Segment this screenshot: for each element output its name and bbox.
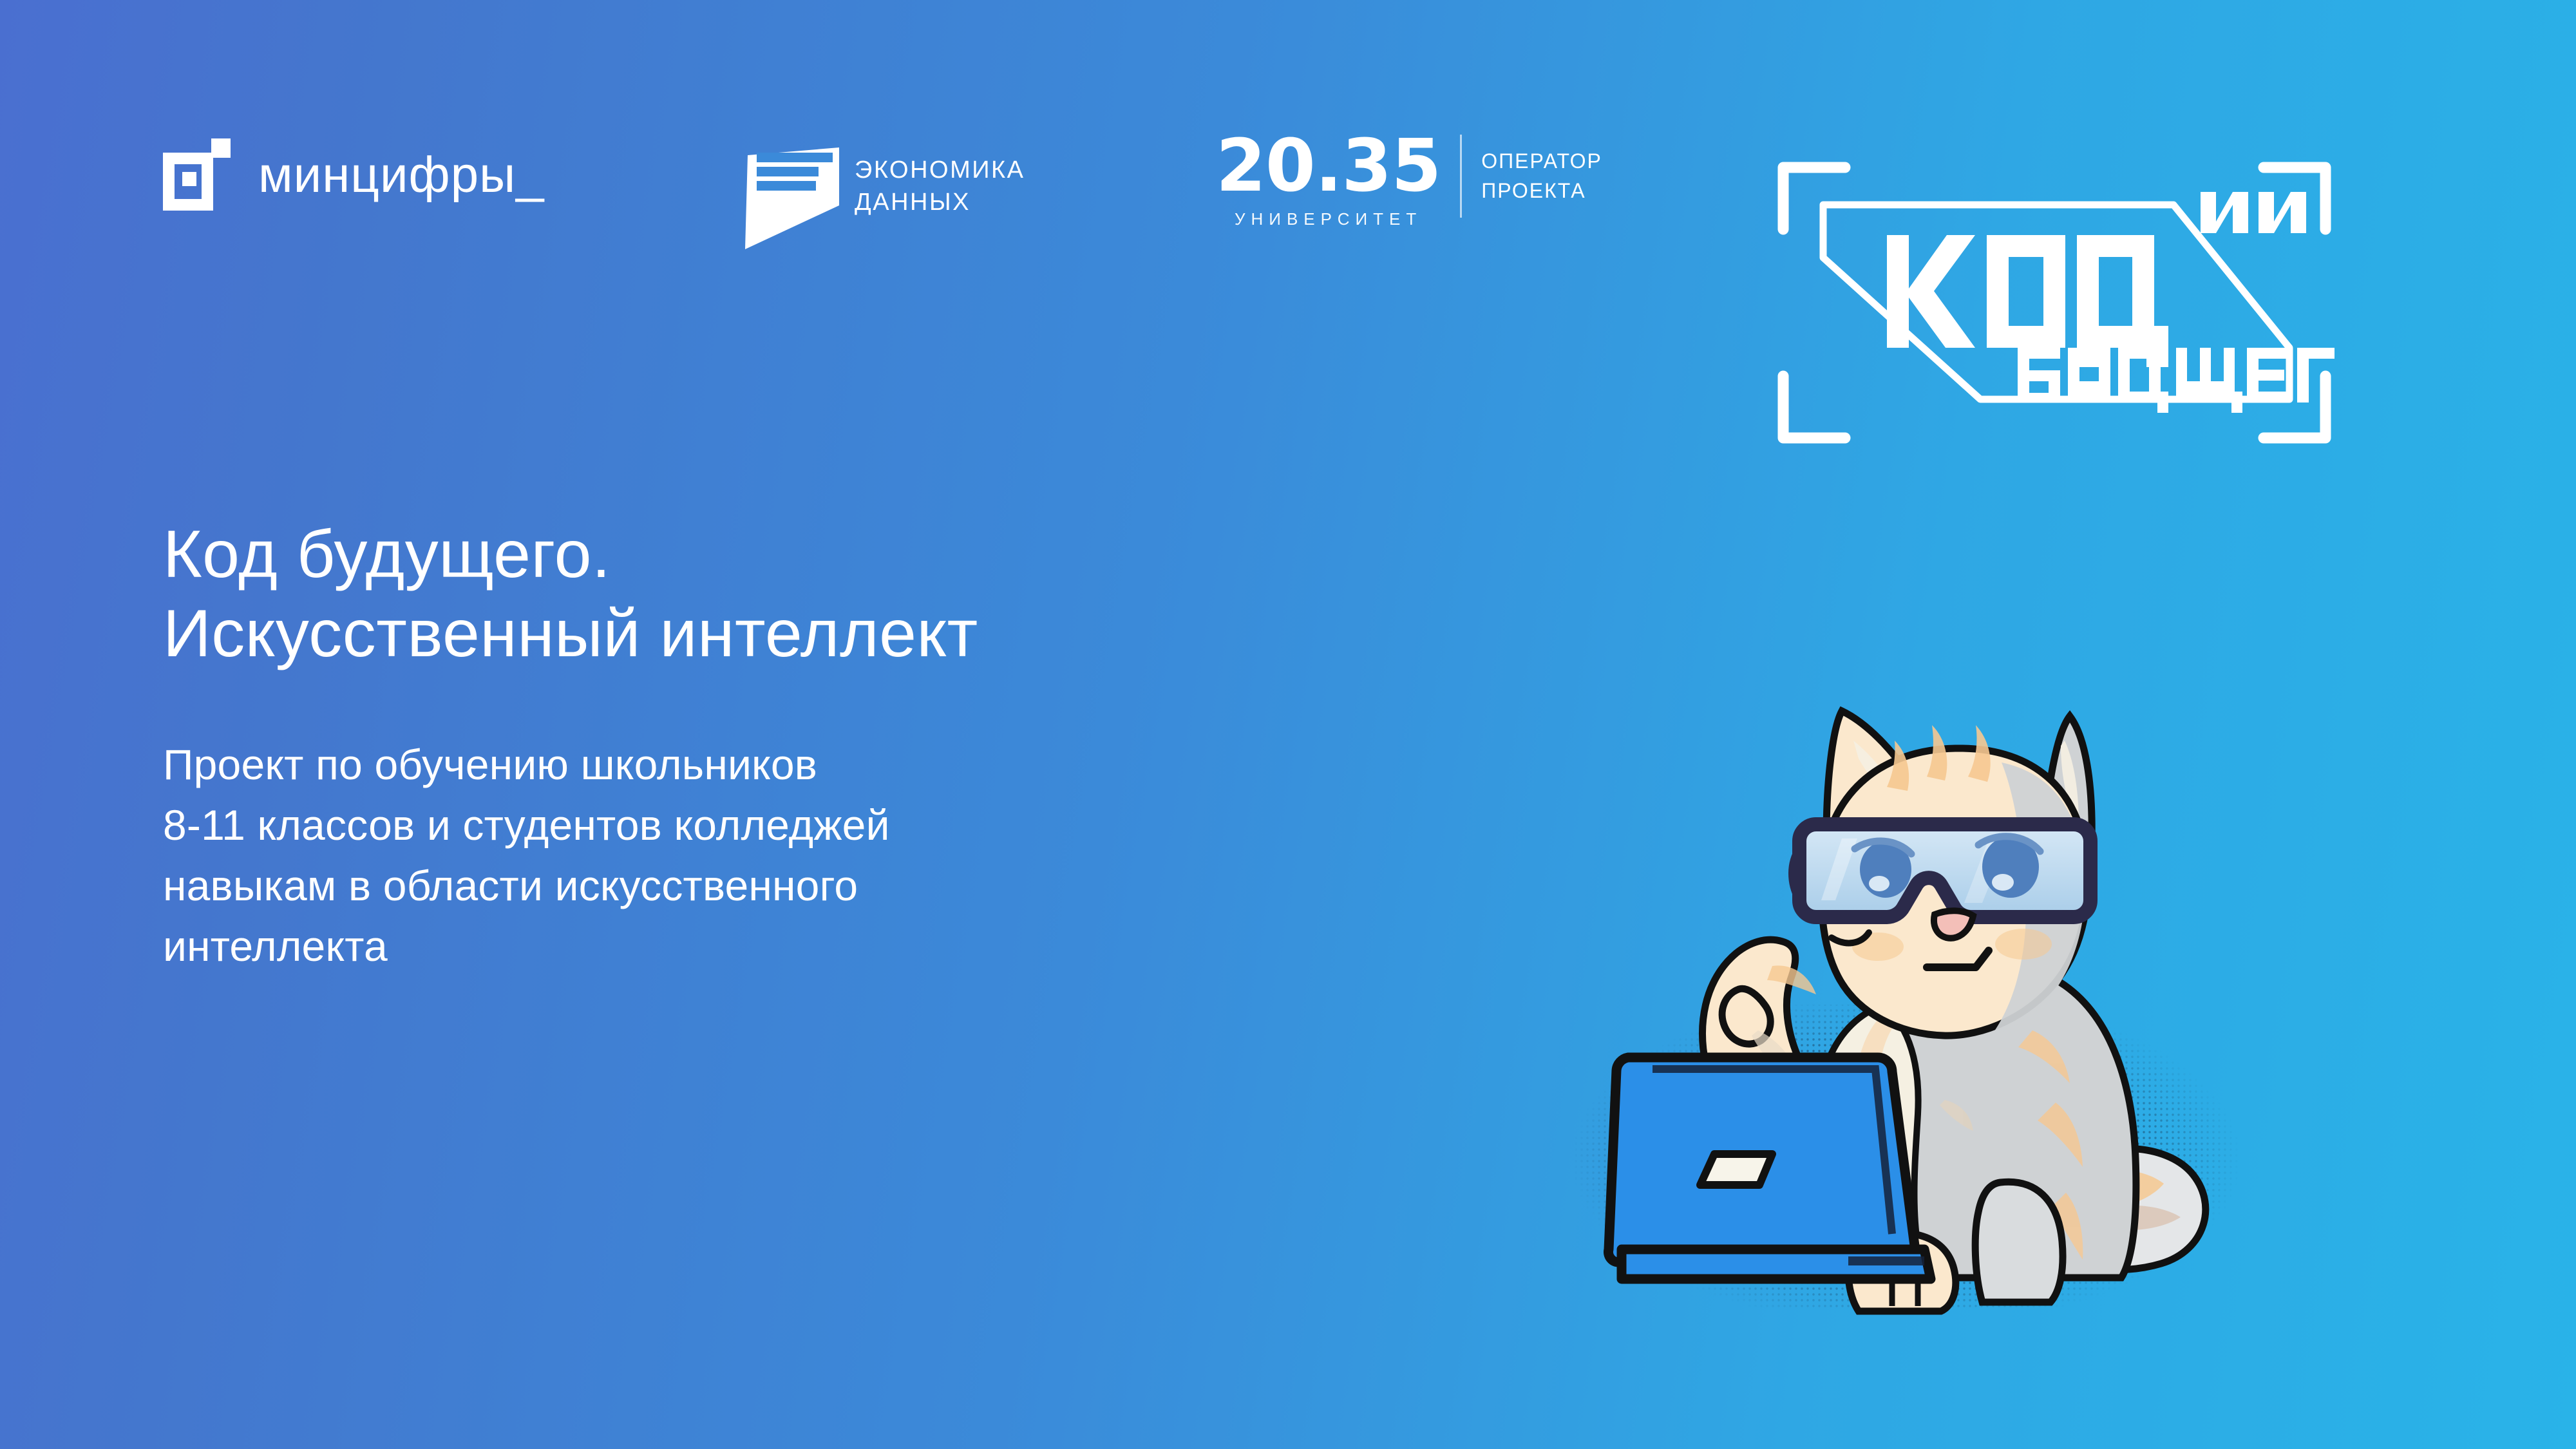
econdata-title: ЭКОНОМИКА ДАННЫХ [855, 138, 1025, 218]
headline-line2: Искусственный интеллект [163, 594, 1515, 674]
headline-line1: Код будущего. [163, 515, 1515, 594]
logo-kod-budushchego[interactable] [1774, 155, 2334, 451]
cat-cheek-left [1852, 933, 1904, 961]
logo-mincifry[interactable]: минцифры_ [163, 138, 545, 211]
operator-line2: ПРОЕКТА [1481, 176, 1602, 205]
body-line3: навыкам в области искусственного [163, 856, 1515, 916]
page-description: Проект по обучению школьников 8-11 класс… [163, 735, 1515, 976]
project-operator-label: ОПЕРАТОР ПРОЕКТА [1481, 132, 1602, 206]
logo-divider [1460, 135, 1462, 218]
copy-block: Код будущего. Искусственный интеллект Пр… [163, 515, 1515, 976]
econdata-title-line2: ДАННЫХ [855, 186, 1025, 218]
bracket-bottom-right [2264, 376, 2325, 438]
bracket-bottom-left [1783, 376, 1845, 438]
kod-word-badge [2201, 192, 2306, 233]
cat-cheek-right [1995, 929, 2052, 960]
operator-line1: ОПЕРАТОР [1481, 146, 1602, 176]
logo-university-2035[interactable]: 20.35 УНИВЕРСИТЕТ ОПЕРАТОР ПРОЕКТА [1216, 132, 1602, 229]
poster-canvas: минцифры_ ЭКОНОМИКА ДАННЫХ 20 [0, 0, 2576, 1449]
body-line4: интеллекта [163, 916, 1515, 977]
laptop-icon [1608, 1057, 1931, 1279]
university-2035-subtitle: УНИВЕРСИТЕТ [1235, 209, 1422, 229]
university-2035-mark: 20.35 УНИВЕРСИТЕТ [1216, 132, 1441, 229]
bracket-top-left [1783, 167, 1845, 229]
cat-nose-icon [1934, 911, 1973, 938]
kod-word-main [1887, 235, 2168, 367]
body-line2: 8-11 классов и студентов колледжей [163, 795, 1515, 856]
econdata-title-line1: ЭКОНОМИКА [855, 154, 1025, 186]
national-projects-flag-icon [744, 138, 839, 251]
logo-econdata[interactable]: ЭКОНОМИКА ДАННЫХ [744, 138, 1025, 251]
mincifry-wordmark: минцифры_ [258, 149, 545, 200]
university-2035-number: 20.35 [1216, 132, 1441, 200]
logo-row: минцифры_ ЭКОНОМИКА ДАННЫХ 20 [0, 0, 2576, 296]
cat-back-leg [1975, 1182, 2063, 1302]
page-title: Код будущего. Искусственный интеллект [163, 515, 1515, 673]
laptop-logo-icon [1700, 1154, 1772, 1185]
body-line1: Проект по обучению школьников [163, 735, 1515, 795]
cat-illustration [1546, 644, 2318, 1320]
mincifry-mark-icon [163, 138, 235, 211]
